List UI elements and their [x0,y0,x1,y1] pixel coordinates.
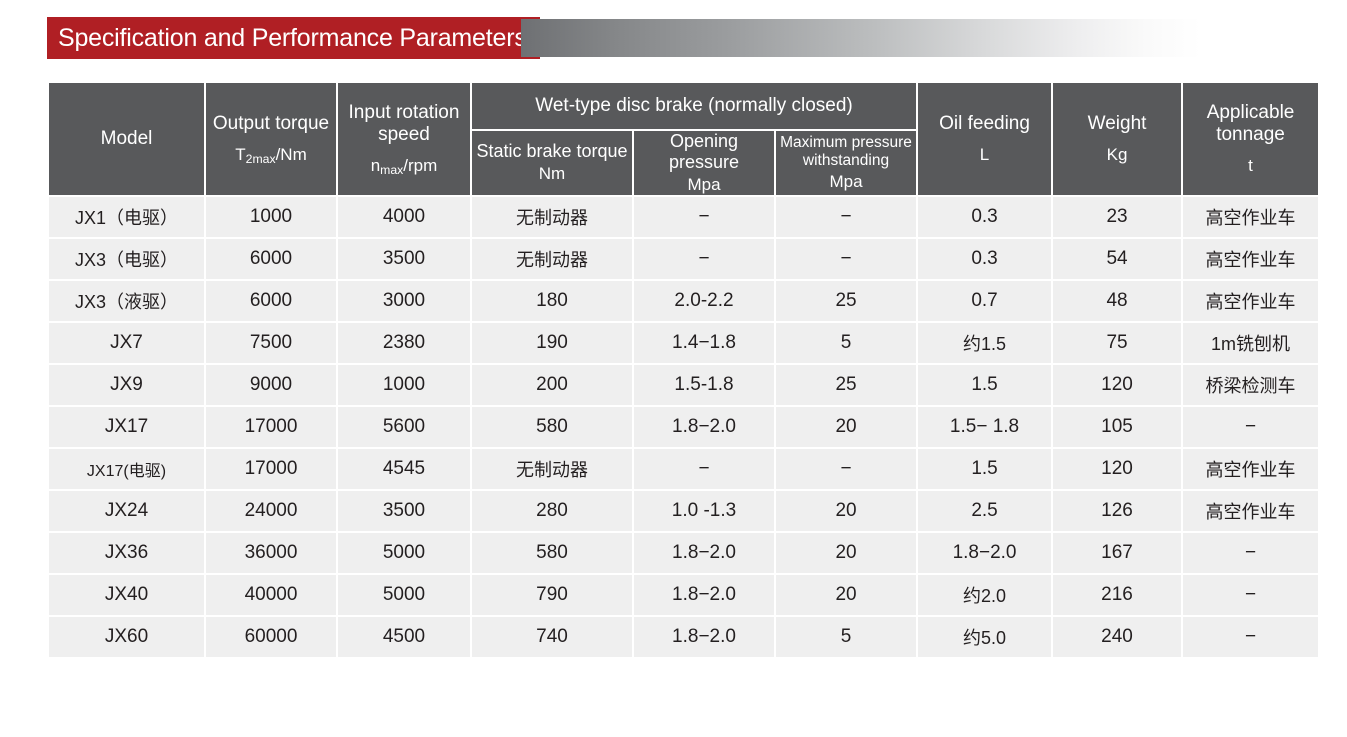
header-output-torque-unit: T2max/Nm [206,145,336,165]
cell-oil-feeding: 0.3 [918,197,1051,237]
table-row: JX7750023801901.4−1.85约1.5751m铣刨机 [49,323,1318,363]
cell-applicable-tonnage: − [1183,407,1318,447]
cell-model: JX17(电驱) [49,449,204,489]
header-opening-pressure-label: Opening pressure [669,131,739,172]
header-max-pressure-label: Maximum pressure withstanding [780,134,912,169]
cell-oil-feeding: 1.5 [918,449,1051,489]
cell-model: JX24 [49,491,204,531]
cell-input-speed: 3500 [338,239,470,279]
cell-static-brake-torque: 740 [472,617,632,657]
header-input-speed-unit: nmax/rpm [338,156,470,176]
cell-applicable-tonnage: − [1183,617,1318,657]
cell-weight: 75 [1053,323,1181,363]
cell-max-pressure: 5 [776,617,916,657]
table-row: JX404000050007901.8−2.020约2.0216− [49,575,1318,615]
header-oil-feeding-unit: L [918,145,1051,165]
specification-table: Model Output torque T2max/Nm Input rotat… [47,81,1320,659]
cell-input-speed: 5000 [338,533,470,573]
title-banner: Specification and Performance Parameters [0,17,1347,59]
cell-output-torque: 6000 [206,239,336,279]
cell-static-brake-torque: 无制动器 [472,197,632,237]
cell-output-torque: 1000 [206,197,336,237]
cell-applicable-tonnage: 高空作业车 [1183,197,1318,237]
header-input-rotation-speed: Input rotation speed nmax/rpm [338,83,470,195]
cell-output-torque: 17000 [206,449,336,489]
cell-opening-pressure: − [634,197,774,237]
cell-max-pressure: − [776,449,916,489]
cell-static-brake-torque: 190 [472,323,632,363]
header-oil-feeding: Oil feeding L [918,83,1051,195]
cell-max-pressure: 25 [776,365,916,405]
table-row: JX3（液驱）600030001802.0-2.2250.748高空作业车 [49,281,1318,321]
cell-max-pressure: − [776,197,916,237]
cell-oil-feeding: 约5.0 [918,617,1051,657]
cell-opening-pressure: 1.0 -1.3 [634,491,774,531]
cell-max-pressure: 20 [776,533,916,573]
cell-weight: 23 [1053,197,1181,237]
cell-static-brake-torque: 无制动器 [472,239,632,279]
cell-input-speed: 3000 [338,281,470,321]
cell-weight: 240 [1053,617,1181,657]
cell-output-torque: 60000 [206,617,336,657]
cell-input-speed: 5000 [338,575,470,615]
cell-opening-pressure: 1.8−2.0 [634,533,774,573]
cell-opening-pressure: 1.8−2.0 [634,407,774,447]
header-input-speed-label: Input rotation speed [349,102,460,145]
cell-model: JX1（电驱） [49,197,204,237]
cell-model: JX7 [49,323,204,363]
cell-input-speed: 2380 [338,323,470,363]
cell-weight: 48 [1053,281,1181,321]
header-row-top: Model Output torque T2max/Nm Input rotat… [49,83,1318,129]
cell-model: JX3（电驱） [49,239,204,279]
cell-oil-feeding: 0.3 [918,239,1051,279]
cell-weight: 54 [1053,239,1181,279]
cell-output-torque: 17000 [206,407,336,447]
cell-applicable-tonnage: 高空作业车 [1183,491,1318,531]
cell-opening-pressure: 1.8−2.0 [634,575,774,615]
cell-output-torque: 7500 [206,323,336,363]
header-static-brake-unit: Nm [472,164,632,184]
cell-opening-pressure: − [634,239,774,279]
cell-oil-feeding: 0.7 [918,281,1051,321]
cell-applicable-tonnage: 桥梁检测车 [1183,365,1318,405]
table-row: JX606000045007401.8−2.05约5.0240− [49,617,1318,657]
cell-input-speed: 5600 [338,407,470,447]
spec-table-container: Model Output torque T2max/Nm Input rotat… [47,81,1300,659]
cell-output-torque: 9000 [206,365,336,405]
cell-static-brake-torque: 180 [472,281,632,321]
header-static-brake-torque: Static brake torque Nm [472,131,632,195]
cell-output-torque: 24000 [206,491,336,531]
cell-model: JX9 [49,365,204,405]
cell-input-speed: 4000 [338,197,470,237]
cell-output-torque: 40000 [206,575,336,615]
header-opening-pressure: Opening pressure Mpa [634,131,774,195]
cell-input-speed: 1000 [338,365,470,405]
cell-max-pressure: 20 [776,407,916,447]
cell-max-pressure: 20 [776,575,916,615]
table-row: JX171700056005801.8−2.0201.5− 1.8105− [49,407,1318,447]
header-max-pressure: Maximum pressure withstanding Mpa [776,131,916,195]
cell-output-torque: 6000 [206,281,336,321]
cell-opening-pressure: 1.8−2.0 [634,617,774,657]
cell-applicable-tonnage: 1m铣刨机 [1183,323,1318,363]
title-red-block: Specification and Performance Parameters [47,17,540,59]
header-max-pressure-unit: Mpa [776,172,916,192]
title-gradient-bar [521,19,1201,57]
cell-weight: 216 [1053,575,1181,615]
table-row: JX1（电驱）10004000无制动器−−0.323高空作业车 [49,197,1318,237]
cell-input-speed: 3500 [338,491,470,531]
cell-static-brake-torque: 580 [472,533,632,573]
table-row: JX9900010002001.5-1.8251.5120桥梁检测车 [49,365,1318,405]
header-model: Model [49,83,204,195]
cell-max-pressure: − [776,239,916,279]
cell-weight: 105 [1053,407,1181,447]
header-weight-unit: Kg [1053,145,1181,165]
cell-static-brake-torque: 790 [472,575,632,615]
cell-oil-feeding: 1.8−2.0 [918,533,1051,573]
cell-max-pressure: 5 [776,323,916,363]
cell-applicable-tonnage: 高空作业车 [1183,281,1318,321]
cell-weight: 120 [1053,449,1181,489]
cell-opening-pressure: 2.0-2.2 [634,281,774,321]
cell-opening-pressure: − [634,449,774,489]
cell-model: JX40 [49,575,204,615]
cell-applicable-tonnage: − [1183,533,1318,573]
header-output-torque: Output torque T2max/Nm [206,83,336,195]
header-output-torque-label: Output torque [213,113,329,134]
header-weight-label: Weight [1088,113,1147,134]
header-tonnage-unit: t [1183,156,1318,176]
cell-oil-feeding: 约2.0 [918,575,1051,615]
header-wet-disc-brake-group: Wet-type disc brake (normally closed) [472,83,916,129]
header-applicable-tonnage: Applicable tonnage t [1183,83,1318,195]
cell-model: JX17 [49,407,204,447]
cell-static-brake-torque: 280 [472,491,632,531]
cell-applicable-tonnage: − [1183,575,1318,615]
header-opening-pressure-unit: Mpa [634,175,774,195]
cell-model: JX60 [49,617,204,657]
cell-max-pressure: 25 [776,281,916,321]
cell-oil-feeding: 1.5− 1.8 [918,407,1051,447]
page-title: Specification and Performance Parameters [58,26,527,51]
cell-oil-feeding: 1.5 [918,365,1051,405]
cell-max-pressure: 20 [776,491,916,531]
cell-weight: 126 [1053,491,1181,531]
table-row: JX17(电驱)170004545无制动器−−1.5120高空作业车 [49,449,1318,489]
cell-weight: 167 [1053,533,1181,573]
cell-input-speed: 4545 [338,449,470,489]
cell-model: JX3（液驱） [49,281,204,321]
cell-static-brake-torque: 200 [472,365,632,405]
cell-output-torque: 36000 [206,533,336,573]
cell-oil-feeding: 约1.5 [918,323,1051,363]
table-row: JX242400035002801.0 -1.3202.5126高空作业车 [49,491,1318,531]
cell-applicable-tonnage: 高空作业车 [1183,239,1318,279]
cell-static-brake-torque: 580 [472,407,632,447]
header-static-brake-label: Static brake torque [476,141,627,161]
cell-opening-pressure: 1.4−1.8 [634,323,774,363]
cell-weight: 120 [1053,365,1181,405]
header-oil-feeding-label: Oil feeding [939,113,1030,134]
table-row: JX363600050005801.8−2.0201.8−2.0167− [49,533,1318,573]
table-row: JX3（电驱）60003500无制动器−−0.354高空作业车 [49,239,1318,279]
header-weight: Weight Kg [1053,83,1181,195]
cell-input-speed: 4500 [338,617,470,657]
cell-applicable-tonnage: 高空作业车 [1183,449,1318,489]
table-header: Model Output torque T2max/Nm Input rotat… [49,83,1318,195]
cell-oil-feeding: 2.5 [918,491,1051,531]
cell-static-brake-torque: 无制动器 [472,449,632,489]
cell-model: JX36 [49,533,204,573]
table-body: JX1（电驱）10004000无制动器−−0.323高空作业车JX3（电驱）60… [49,197,1318,657]
header-tonnage-label: Applicable tonnage [1207,102,1295,145]
cell-opening-pressure: 1.5-1.8 [634,365,774,405]
